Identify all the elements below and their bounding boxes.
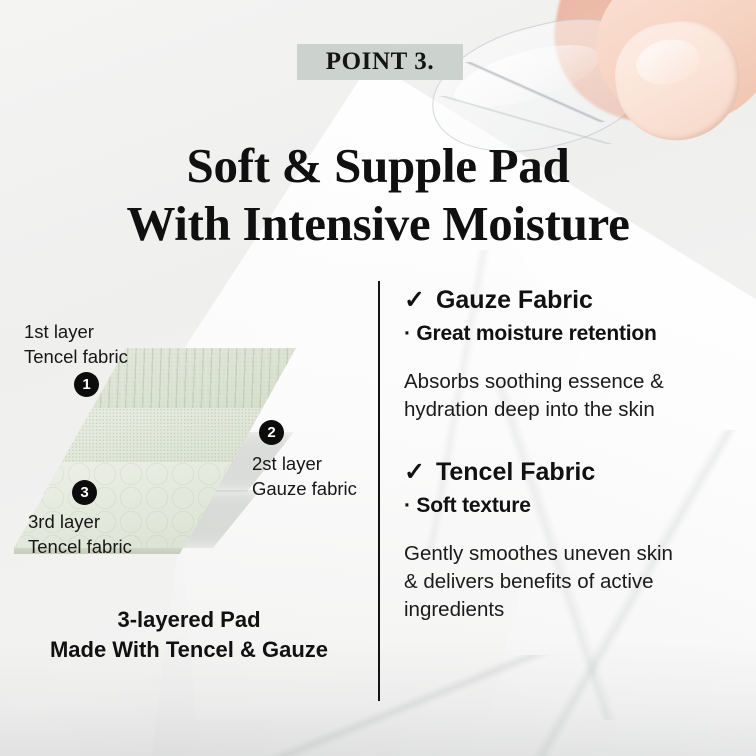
feature-list: ✓ Gauze Fabric · Great moisture retentio… xyxy=(404,286,744,657)
point-badge-label: POINT 3. xyxy=(326,48,435,76)
feature-tencel-heading: ✓ Tencel Fabric xyxy=(404,458,744,487)
feature-tencel-subtitle: · Soft texture xyxy=(404,494,744,518)
layer-diagram: 1 2 3 1st layer Tencel fabric 2st layer … xyxy=(0,300,378,630)
feature-gauze-title: Gauze Fabric xyxy=(436,286,593,315)
point-badge: POINT 3. xyxy=(297,44,463,80)
vertical-divider xyxy=(378,281,380,701)
feature-gauze-body: Absorbs soothing essence & hydration dee… xyxy=(404,368,744,424)
feature-gauze-subtitle: · Great moisture retention xyxy=(404,322,744,346)
promo-graphic: POINT 3. Soft & Supple Pad With Intensiv… xyxy=(0,0,756,756)
feature-tencel-body: Gently smoothes uneven skin & delivers b… xyxy=(404,540,744,624)
feature-tencel: ✓ Tencel Fabric · Soft texture Gently sm… xyxy=(404,458,744,624)
diagram-caption: 3-layered Pad Made With Tencel & Gauze xyxy=(0,605,378,666)
feature-tencel-title: Tencel Fabric xyxy=(436,458,595,487)
layer-1-badge: 1 xyxy=(74,372,99,397)
feature-gauze-heading: ✓ Gauze Fabric xyxy=(404,286,744,315)
finger-holding-pad xyxy=(588,0,756,133)
layer-3-label: 3rd layer Tencel fabric xyxy=(28,510,132,559)
film-highlight xyxy=(448,32,605,119)
page-title: Soft & Supple Pad With Intensive Moistur… xyxy=(0,137,756,253)
finger-background xyxy=(541,0,756,141)
check-icon: ✓ xyxy=(404,288,425,313)
feature-gauze: ✓ Gauze Fabric · Great moisture retentio… xyxy=(404,286,744,424)
bottom-fold-line xyxy=(40,655,740,756)
check-icon: ✓ xyxy=(404,460,425,485)
thumb-background xyxy=(636,0,756,110)
layer-2-label: 2st layer Gauze fabric xyxy=(252,452,357,501)
fingernail xyxy=(608,14,747,148)
layer-1-label: 1st layer Tencel fabric xyxy=(24,320,128,369)
layer-3-badge: 3 xyxy=(72,480,97,505)
headline-line-2: With Intensive Moisture xyxy=(0,195,756,253)
layer-2-badge: 2 xyxy=(259,420,284,445)
film-edge-line-1 xyxy=(440,62,640,122)
fingernail-highlight xyxy=(632,34,704,90)
headline-line-1: Soft & Supple Pad xyxy=(187,138,570,193)
